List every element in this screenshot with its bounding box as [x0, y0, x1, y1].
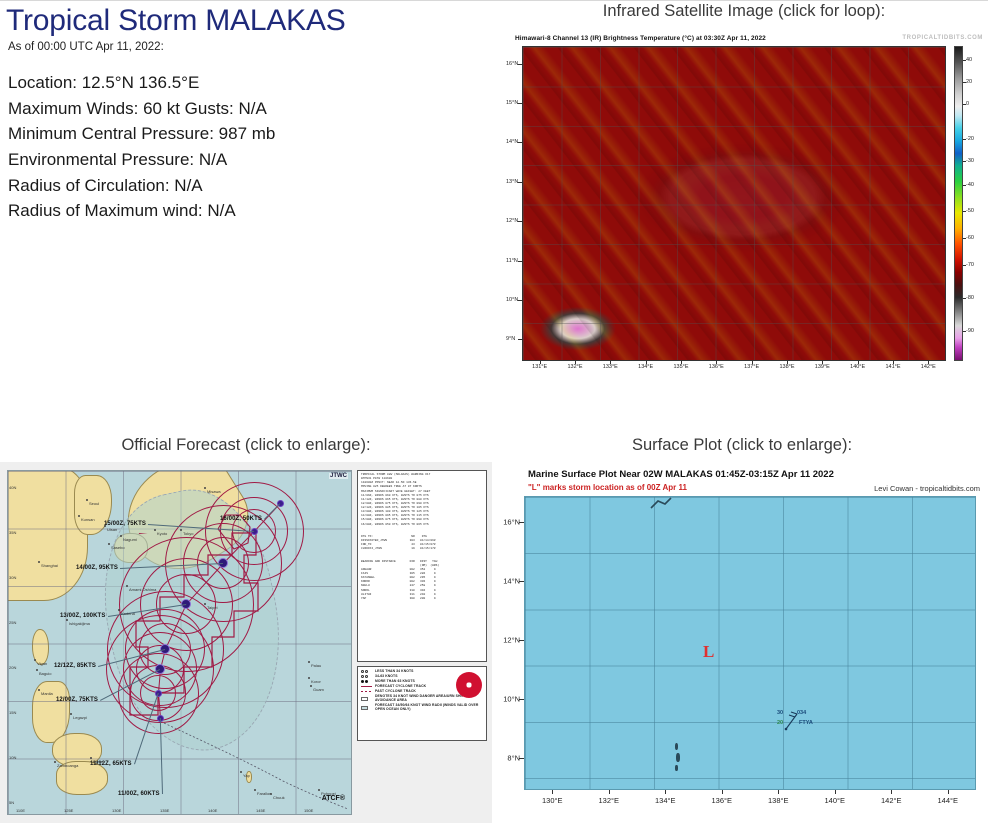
satellite-plot-area[interactable] — [522, 46, 946, 361]
surface-x-tick-label: 144°E — [937, 796, 958, 805]
satellite-y-tick-label: 13°N — [506, 179, 518, 185]
city-marker — [34, 659, 36, 661]
city-marker — [38, 561, 40, 563]
satellite-x-tick-label: 142°E — [921, 364, 936, 370]
surface-section-heading: Surface Plot (click to enlarge): — [496, 436, 988, 455]
surface-x-tick-label: 142°E — [881, 796, 902, 805]
satellite-x-tick-label: 137°E — [744, 364, 759, 370]
forecast-x-axis-label: 110E — [16, 808, 25, 813]
forecast-x-axis-label: 145E — [256, 808, 265, 813]
city-marker — [126, 585, 128, 587]
forecast-x-axis-label: 130E — [112, 808, 121, 813]
city-label: Kunsan — [81, 517, 95, 522]
colorbar-tick-label: -50 — [966, 208, 974, 214]
surface-y-tick-label: 8°N — [496, 753, 520, 762]
city-label: Ulsan — [107, 527, 117, 532]
colorbar-tick-label: -30 — [966, 158, 974, 164]
satellite-y-tick — [518, 103, 522, 104]
coastline-shape — [649, 495, 673, 511]
city-label: Koror — [311, 679, 321, 684]
city-label: Misawa — [207, 489, 221, 494]
colorbar-tick-label: 40 — [966, 57, 972, 63]
colorbar-tick-label: -70 — [966, 262, 974, 268]
satellite-image-title: Himawari-8 Channel 13 (IR) Brightness Te… — [515, 35, 766, 42]
satellite-y-tick — [518, 221, 522, 222]
satellite-x-tick-label: 135°E — [673, 364, 688, 370]
satellite-x-tick-label: 131°E — [532, 364, 547, 370]
surface-plot-credit: Levi Cowan - tropicaltidbits.com — [874, 484, 980, 493]
stat-location: Location: 12.5°N 136.5°E — [8, 71, 486, 96]
satellite-y-tick-label: 14°N — [506, 139, 518, 145]
top-divider — [0, 0, 988, 1]
city-label: Tokyo — [183, 531, 193, 536]
forecast-point-label: 16/00Z, 50KTS — [220, 516, 262, 522]
city-marker — [204, 603, 206, 605]
official-forecast-image[interactable]: 15/00Z, 75KTS16/00Z, 50KTS14/00Z, 95KTS1… — [0, 462, 492, 823]
city-marker — [240, 771, 242, 773]
solid-line-icon — [361, 686, 373, 687]
surface-x-tick — [722, 790, 723, 794]
city-marker — [270, 793, 272, 795]
colorbar-tick-label: 0 — [966, 101, 969, 107]
satellite-x-tick-label: 140°E — [850, 364, 865, 370]
city-marker — [78, 515, 80, 517]
surface-plot-title: Marine Surface Plot Near 02W MALAKAS 01:… — [528, 469, 834, 480]
surface-y-tick-label: 16°N — [496, 518, 520, 527]
colorbar-tick-label: -20 — [966, 136, 974, 142]
city-label: Guam — [313, 687, 324, 692]
storm-info-panel: Tropical Storm MALAKAS As of 00:00 UTC A… — [6, 4, 486, 225]
city-marker — [38, 689, 40, 691]
surface-plot-subtitle: "L" marks storm location as of 00Z Apr 1… — [528, 483, 687, 492]
forecast-y-axis-label: 30N — [9, 575, 16, 580]
forecast-point-label: 14/00Z, 95KTS — [76, 565, 118, 571]
city-marker — [310, 685, 312, 687]
island-shape — [675, 765, 678, 771]
city-label: Yap — [243, 773, 250, 778]
as-of-timestamp: As of 00:00 UTC Apr 11, 2022: — [8, 41, 486, 53]
satellite-y-tick-label: 16°N — [506, 61, 518, 67]
jtwc-bulletin-text: TROPICAL STORM 02W (MALAKAS) WARNING #17… — [357, 470, 487, 662]
city-marker — [120, 535, 122, 537]
forecast-y-axis-label: 15N — [9, 710, 16, 715]
city-label: Kyoto — [157, 531, 167, 536]
forecast-point-label: 12/12Z, 85KTS — [54, 663, 96, 669]
surface-x-tick — [552, 790, 553, 794]
satellite-colorbar — [954, 46, 963, 361]
wind-barb-icon — [783, 709, 803, 731]
surface-y-tick-label: 14°N — [496, 577, 520, 586]
satellite-y-tick-label: 12°N — [506, 218, 518, 224]
low-pressure-marker: L — [703, 642, 714, 662]
city-marker — [308, 661, 310, 663]
city-marker — [118, 609, 120, 611]
city-label: Palau — [311, 663, 321, 668]
surface-x-tick-label: 130°E — [542, 796, 563, 805]
city-label: Kadena — [121, 611, 135, 616]
island-shape — [676, 753, 680, 762]
city-marker — [104, 525, 106, 527]
colorbar-tick-label: -90 — [966, 328, 974, 334]
legend-label: FORECAST 34/50/64 KNOT WIND RADII (WINDS… — [375, 704, 483, 712]
white-box-icon — [361, 697, 373, 701]
city-marker — [90, 757, 92, 759]
stat-max-winds: Maximum Winds: 60 kt Gusts: N/A — [8, 97, 486, 122]
city-label: Vigan — [37, 661, 47, 666]
jtwc-bulletin-body: TROPICAL STORM 02W (MALAKAS) WARNING #17… — [361, 473, 483, 601]
city-marker — [308, 677, 310, 679]
city-label: Amami Oshima — [129, 587, 156, 592]
colorbar-tick-label: -80 — [966, 295, 974, 301]
cyclone-logo-icon — [456, 672, 482, 698]
open-circle-icon — [361, 670, 373, 673]
surface-plot-image[interactable]: Marine Surface Plot Near 02W MALAKAS 01:… — [496, 462, 988, 823]
surface-x-tick — [835, 790, 836, 794]
dashed-line-icon — [361, 691, 373, 692]
city-label: Nagumi — [123, 537, 137, 542]
forecast-y-axis-label: 10N — [9, 755, 16, 760]
city-marker — [54, 761, 56, 763]
city-label: Sasebo — [111, 545, 125, 550]
forecast-track-map[interactable]: 15/00Z, 75KTS16/00Z, 50KTS14/00Z, 95KTS1… — [7, 470, 352, 815]
forecast-section-heading: Official Forecast (click to enlarge): — [0, 436, 492, 455]
surface-gridlines — [525, 497, 975, 789]
satellite-y-tick — [518, 300, 522, 301]
stat-min-pressure: Minimum Central Pressure: 987 mb — [8, 122, 486, 147]
colorbar-tick-label: -60 — [966, 235, 974, 241]
legend-row-wind-radii: FORECAST 34/50/64 KNOT WIND RADII (WINDS… — [361, 704, 483, 712]
city-label: Taipei — [207, 605, 217, 610]
city-marker — [108, 543, 110, 545]
city-marker — [254, 789, 256, 791]
surface-x-tick-label: 140°E — [824, 796, 845, 805]
atcf-tag: ATCF® — [322, 795, 345, 802]
island-shape — [675, 743, 678, 750]
city-marker — [66, 619, 68, 621]
city-label: Baguio — [39, 671, 51, 676]
colorbar-tick-label: -40 — [966, 182, 974, 188]
city-marker — [204, 487, 206, 489]
satellite-x-tick-label: 132°E — [567, 364, 582, 370]
surface-x-tick — [665, 790, 666, 794]
half-circle-icon — [361, 675, 373, 678]
jtwc-agency-tag: JTWC — [329, 473, 348, 479]
satellite-y-tick — [518, 142, 522, 143]
surface-x-tick — [609, 790, 610, 794]
forecast-point-label: 11/00Z, 60KTS — [118, 791, 160, 797]
city-marker — [180, 529, 182, 531]
city-label: Shanghai — [41, 563, 58, 568]
surface-x-tick — [948, 790, 949, 794]
infrared-satellite-image[interactable]: Himawari-8 Channel 13 (IR) Brightness Te… — [505, 30, 985, 388]
forecast-y-axis-label: 5N — [9, 800, 14, 805]
forecast-y-axis-label: 35N — [9, 530, 16, 535]
city-label: Davao — [93, 759, 105, 764]
city-label: Manila — [41, 691, 53, 696]
surface-y-tick-label: 12°N — [496, 636, 520, 645]
city-marker — [36, 669, 38, 671]
forecast-point-label: 12/00Z, 75KTS — [56, 697, 98, 703]
surface-x-tick — [891, 790, 892, 794]
shaded-box-icon — [361, 706, 373, 710]
city-label: Chuuk — [273, 795, 285, 800]
satellite-y-tick — [518, 182, 522, 183]
surface-x-tick — [778, 790, 779, 794]
surface-x-tick-label: 136°E — [711, 796, 732, 805]
colorbar-tick-label: 20 — [966, 79, 972, 85]
surface-x-tick-label: 132°E — [598, 796, 619, 805]
city-marker — [154, 529, 156, 531]
satellite-x-tick-label: 139°E — [815, 364, 830, 370]
surface-x-tick-label: 138°E — [768, 796, 789, 805]
surface-x-tick-label: 134°E — [655, 796, 676, 805]
forecast-x-axis-label: 150E — [304, 808, 313, 813]
city-label: Legazpi — [73, 715, 87, 720]
forecast-x-axis-label: 140E — [208, 808, 217, 813]
satellite-gridlines — [523, 47, 945, 360]
stat-env-pressure: Environmental Pressure: N/A — [8, 148, 486, 173]
forecast-map-legend: LESS THAN 34 KNOTS 34-63 KNOTS MORE THAN… — [357, 666, 487, 741]
stat-radius-max-wind: Radius of Maximum wind: N/A — [8, 199, 486, 224]
satellite-y-tick — [518, 339, 522, 340]
stat-radius-circulation: Radius of Circulation: N/A — [8, 174, 486, 199]
satellite-y-tick — [518, 261, 522, 262]
forecast-y-axis-label: 20N — [9, 665, 16, 670]
satellite-y-tick — [518, 64, 522, 65]
forecast-y-axis-label: 25N — [9, 620, 16, 625]
surface-plot-area[interactable]: L 30 034 20 FTYA — [524, 496, 976, 790]
satellite-x-tick-label: 133°E — [603, 364, 618, 370]
city-marker — [318, 789, 320, 791]
satellite-watermark: TROPICALTIDBITS.COM — [902, 35, 983, 41]
satellite-y-tick-label: 15°N — [506, 100, 518, 106]
forecast-x-axis-label: 125E — [64, 808, 73, 813]
satellite-x-tick-label: 141°E — [885, 364, 900, 370]
city-label: Seoul — [89, 501, 99, 506]
city-marker — [86, 499, 88, 501]
satellite-y-tick-label: 10°N — [506, 297, 518, 303]
forecast-x-axis-label: 135E — [160, 808, 169, 813]
satellite-section-heading: Infrared Satellite Image (click for loop… — [500, 2, 988, 21]
city-label: Zamboanga — [57, 763, 78, 768]
satellite-x-tick-label: 134°E — [638, 364, 653, 370]
satellite-y-tick-label: 9°N — [506, 336, 515, 342]
surface-y-tick-label: 10°N — [496, 694, 520, 703]
storm-summary-page: Tropical Storm MALAKAS As of 00:00 UTC A… — [0, 0, 988, 823]
forecast-y-axis-label: 40N — [9, 485, 16, 490]
satellite-x-tick-label: 138°E — [779, 364, 794, 370]
page-title: Tropical Storm MALAKAS — [6, 4, 486, 37]
city-label: Ishigakijima — [69, 621, 90, 626]
filled-circle-icon — [361, 680, 373, 683]
satellite-y-tick-label: 11°N — [506, 258, 518, 264]
satellite-x-tick-label: 136°E — [709, 364, 724, 370]
city-marker — [70, 713, 72, 715]
